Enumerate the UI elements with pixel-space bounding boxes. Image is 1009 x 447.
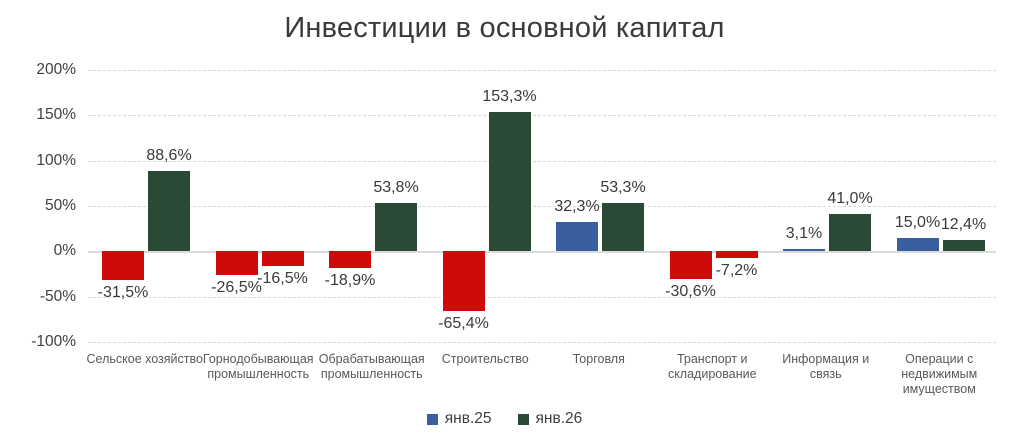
legend-swatch-icon (518, 414, 529, 425)
bar-group: -18,9%53,8% (315, 70, 429, 342)
bar-group: 15,0%12,4% (883, 70, 997, 342)
bar[interactable] (148, 171, 190, 251)
bar[interactable] (262, 251, 304, 266)
bar[interactable] (897, 238, 939, 252)
bar-value-label: -65,4% (416, 315, 512, 333)
bar[interactable] (829, 214, 871, 251)
x-axis-category-label: Обрабатывающая промышленность (311, 352, 433, 382)
x-axis-category-label: Сельское хозяйство (84, 352, 206, 367)
bar-group: 32,3%53,3% (542, 70, 656, 342)
x-axis-category-label: Торговля (538, 352, 660, 367)
plot-area: -31,5%88,6%-26,5%-16,5%-18,9%53,8%-65,4%… (88, 70, 996, 342)
x-axis-category-label: Горнодобывающая промышленность (198, 352, 320, 382)
y-axis-tick-label: 150% (0, 106, 76, 124)
y-axis-tick-label: 0% (0, 242, 76, 260)
bar-value-label: 12,4% (916, 216, 1009, 234)
bar[interactable] (102, 251, 144, 280)
bar-group: 3,1%41,0% (769, 70, 883, 342)
bar[interactable] (375, 203, 417, 252)
bar[interactable] (489, 112, 531, 251)
y-axis-tick-label: 200% (0, 61, 76, 79)
bar[interactable] (443, 251, 485, 310)
y-axis-tick-label: -50% (0, 288, 76, 306)
bar-value-label: -30,6% (643, 283, 739, 301)
legend-swatch-icon (427, 414, 438, 425)
x-axis-category-label: Операции с недвижимым имуществом (879, 352, 1001, 397)
y-axis-tick-label: 50% (0, 197, 76, 215)
x-axis-category-label: Строительство (425, 352, 547, 367)
bar-group: -65,4%153,3% (429, 70, 543, 342)
bar-value-label: -18,9% (302, 272, 398, 290)
y-axis-tick-label: -100% (0, 333, 76, 351)
bar-group: -31,5%88,6% (88, 70, 202, 342)
x-axis-category-label: Транспорт и складирование (652, 352, 774, 382)
y-axis-tick-label: 100% (0, 152, 76, 170)
legend-item[interactable]: янв.25 (427, 410, 492, 428)
bar-group: -26,5%-16,5% (202, 70, 316, 342)
legend-label: янв.26 (536, 410, 583, 428)
legend-item[interactable]: янв.26 (518, 410, 583, 428)
bar[interactable] (943, 240, 985, 251)
legend-label: янв.25 (445, 410, 492, 428)
bar[interactable] (556, 222, 598, 251)
bar-value-label: -31,5% (75, 284, 171, 302)
bar[interactable] (329, 251, 371, 268)
bar[interactable] (716, 251, 758, 258)
bar-group: -30,6%-7,2% (656, 70, 770, 342)
x-axis-category-label: Информация и связь (765, 352, 887, 382)
chart-title: Инвестиции в основной капитал (0, 12, 1009, 45)
chart-container: Инвестиции в основной капитал -31,5%88,6… (0, 0, 1009, 447)
gridline (88, 342, 996, 343)
bar[interactable] (783, 249, 825, 252)
chart-legend: янв.25янв.26 (0, 410, 1009, 428)
bar[interactable] (602, 203, 644, 251)
